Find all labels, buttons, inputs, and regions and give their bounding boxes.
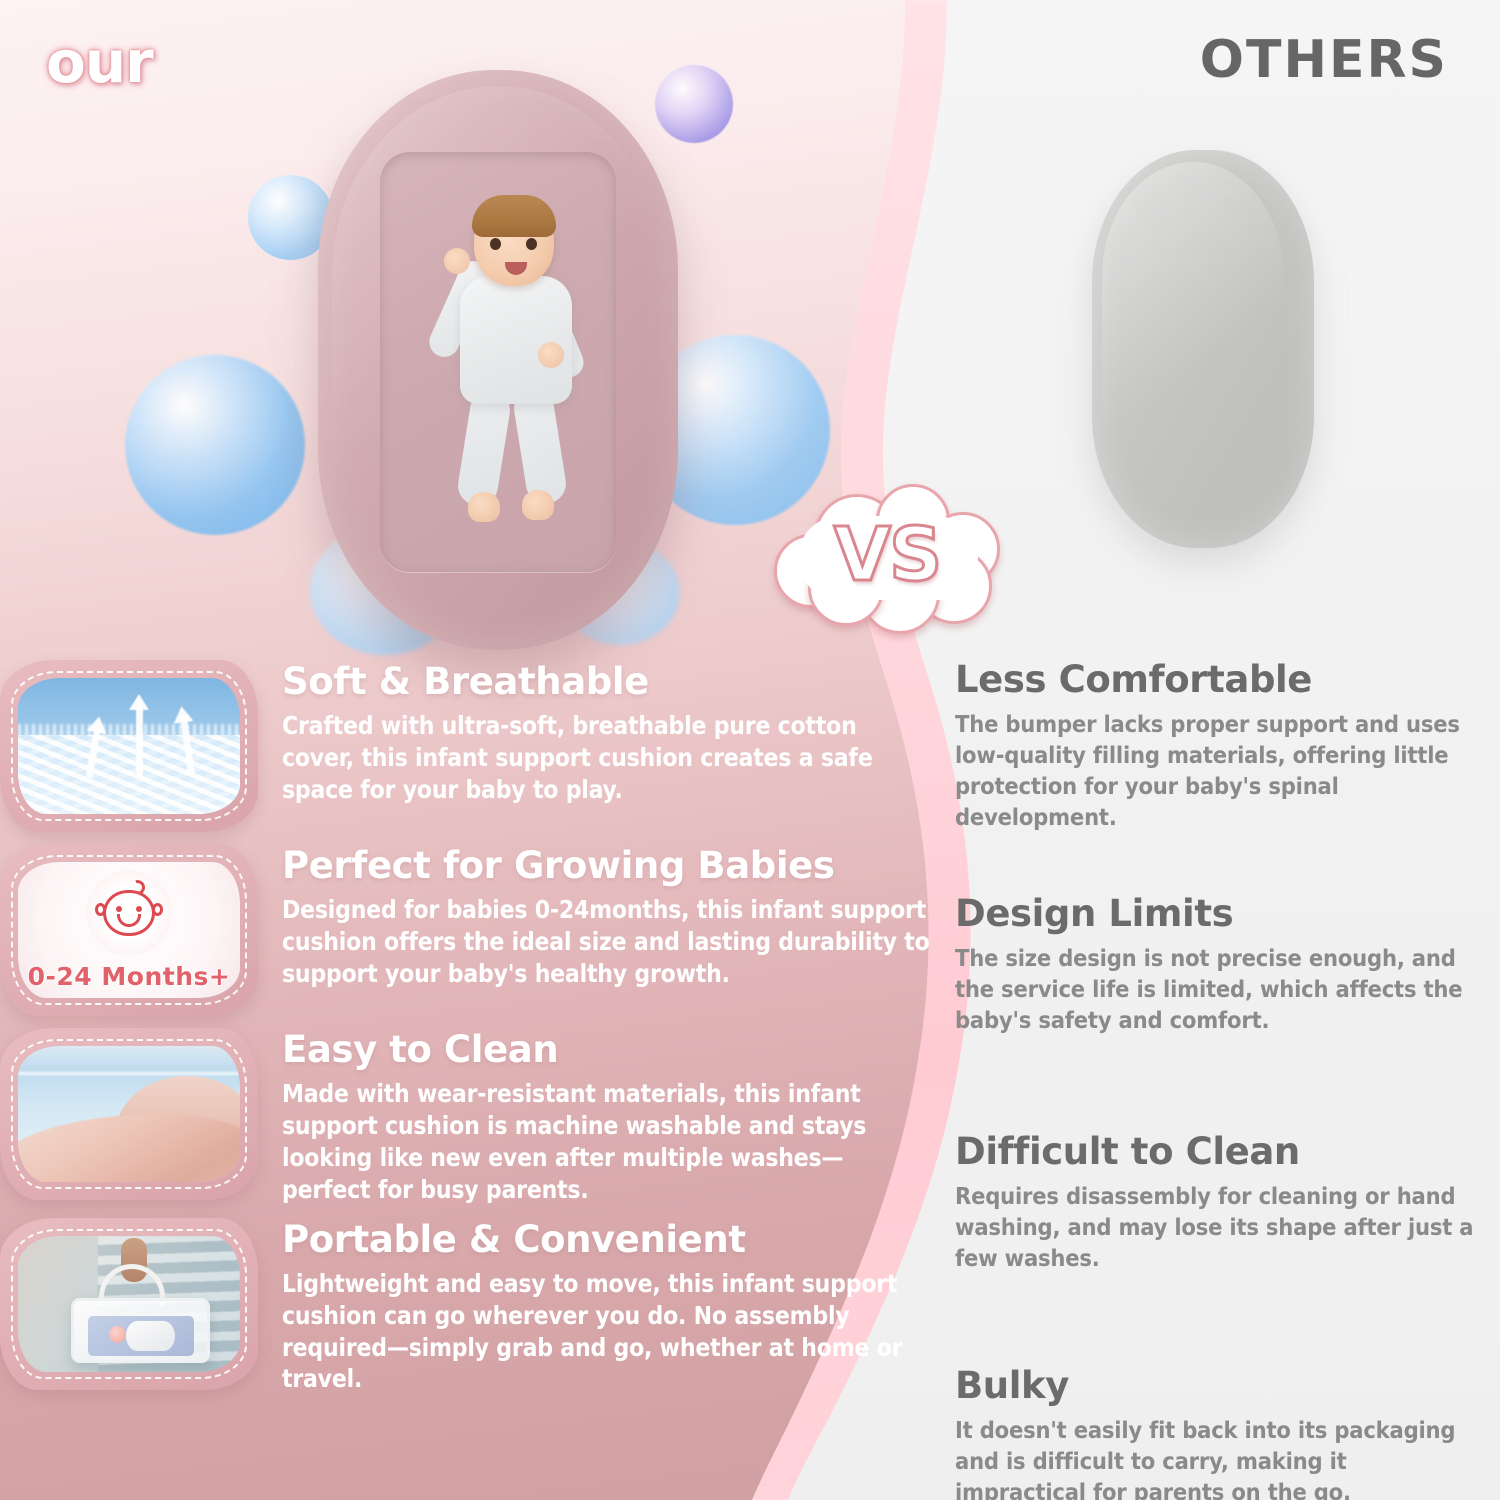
baby-face-outline: [103, 890, 155, 936]
drawback-title: Difficult to Clean: [955, 1132, 1480, 1171]
feature-body: Made with wear-resistant materials, this…: [282, 1078, 930, 1205]
drawback-row-bulky: Bulky It doesn't easily fit back into it…: [955, 1366, 1480, 1500]
drawback-body: It doesn't easily fit back into its pack…: [955, 1415, 1480, 1500]
thumb-clip: [18, 678, 240, 814]
feature-title: Easy to Clean: [282, 1030, 930, 1069]
thumb-clip: 0-24 Months+: [18, 862, 240, 998]
comparison-infographic: our OTHERS VS: [0, 0, 1500, 1500]
feature-text: Portable & Convenient Lightweight and ea…: [282, 1218, 930, 1396]
water-surface-line: [18, 1072, 240, 1075]
feature-text: Soft & Breathable Crafted with ultra-sof…: [282, 660, 930, 806]
knit-texture: [18, 735, 240, 814]
baby-onesie: [460, 276, 572, 404]
thumb-clip: [18, 1236, 240, 1372]
baby-eye-right: [526, 238, 537, 250]
baby-eye-left: [116, 906, 122, 912]
drawback-title: Bulky: [955, 1366, 1480, 1405]
baby-illustration: [428, 200, 598, 520]
machine-wash-icon: [0, 1028, 258, 1200]
vs-cloud-badge: VS: [768, 482, 1006, 632]
baby-right-hand: [538, 342, 564, 368]
baby-ear-right: [152, 903, 163, 916]
baby-right-foot: [522, 490, 554, 520]
vs-label: VS: [768, 512, 1006, 598]
others-heading: OTHERS: [1200, 30, 1448, 90]
feature-body: Crafted with ultra-soft, breathable pure…: [282, 710, 930, 806]
breathable-illustration: [18, 678, 240, 814]
drawback-title: Less Comfortable: [955, 660, 1480, 699]
drawback-body: Requires disassembly for cleaning or han…: [955, 1181, 1480, 1274]
feature-row-portable: Portable & Convenient Lightweight and ea…: [0, 1218, 930, 1396]
drawback-row-less-comfortable: Less Comfortable The bumper lacks proper…: [955, 660, 1480, 856]
feature-title: Soft & Breathable: [282, 662, 930, 701]
feature-text: Perfect for Growing Babies Designed for …: [282, 844, 930, 990]
others-drawbacks-list: Less Comfortable The bumper lacks proper…: [955, 660, 1480, 1500]
baby-eye-left: [490, 238, 501, 250]
baby-eye-right: [136, 906, 142, 912]
age-badge-illustration: 0-24 Months+: [18, 862, 240, 998]
fabric-swirl-front: [18, 1114, 240, 1182]
feature-title: Perfect for Growing Babies: [282, 846, 930, 885]
our-heading: our: [46, 28, 153, 96]
baby-left-hand: [444, 248, 470, 274]
feature-title: Portable & Convenient: [282, 1220, 930, 1259]
age-range-label: 0-24 Months+: [28, 962, 231, 991]
baby-left-foot: [468, 492, 500, 522]
drawback-body: The size design is not precise enough, a…: [955, 943, 1480, 1036]
packed-lounger: [126, 1321, 175, 1351]
baby-age-badge-icon: 0-24 Months+: [0, 844, 258, 1016]
breathable-fabric-icon: [0, 660, 258, 832]
feature-row-soft-breathable: Soft & Breathable Crafted with ultra-sof…: [0, 660, 930, 832]
baby-hair: [472, 195, 556, 237]
bag-contents: [88, 1316, 195, 1355]
decorative-bubble-icon: [125, 355, 305, 535]
feature-text: Easy to Clean Made with wear-resistant m…: [282, 1028, 930, 1206]
baby-ear-left: [95, 903, 106, 916]
drawback-row-design-limits: Design Limits The size design is not pre…: [955, 894, 1480, 1094]
baby-left-leg: [455, 388, 513, 509]
drawback-title: Design Limits: [955, 894, 1480, 933]
feature-row-easy-clean: Easy to Clean Made with wear-resistant m…: [0, 1028, 930, 1206]
baby-face-icon: [86, 870, 172, 956]
travel-bag-icon: [0, 1218, 258, 1390]
drawback-body: The bumper lacks proper support and uses…: [955, 709, 1480, 833]
feature-body: Designed for babies 0-24months, this inf…: [282, 894, 930, 990]
thumb-clip: [18, 1046, 240, 1182]
our-features-list: Soft & Breathable Crafted with ultra-sof…: [0, 660, 930, 1407]
drawback-row-difficult-clean: Difficult to Clean Requires disassembly …: [955, 1132, 1480, 1328]
feature-row-growing-babies: 0-24 Months+ Perfect for Growing Babies …: [0, 844, 930, 1016]
travel-bag-illustration: [18, 1236, 240, 1372]
airflow-arrow-icon: [136, 704, 143, 778]
feature-body: Lightweight and easy to move, this infan…: [282, 1268, 930, 1395]
packed-accessory: [109, 1326, 126, 1343]
wash-illustration: [18, 1046, 240, 1182]
our-product-hero-image: [318, 70, 678, 650]
competitor-product-image: [1092, 150, 1314, 548]
clear-carry-bag: [71, 1298, 210, 1364]
